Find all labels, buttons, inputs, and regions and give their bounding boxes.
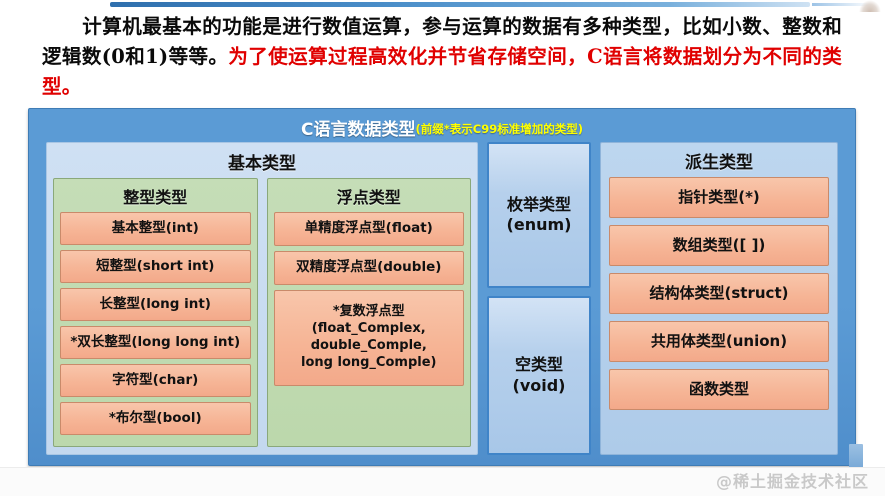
type-item-char[interactable]: 字符型(char) — [60, 364, 251, 397]
type-item-long-long-int[interactable]: *双长整型(long long int) — [60, 326, 251, 359]
type-item-complex[interactable]: *复数浮点型(float_Complex,double_Comple,long … — [274, 290, 465, 386]
top-rule-bar — [110, 2, 810, 7]
type-item-double[interactable]: 双精度浮点型(double) — [274, 251, 465, 285]
type-item-union[interactable]: 共用体类型(union) — [609, 321, 829, 362]
diagram-columns: 基本类型 整型类型 基本整型(int) 短整型(short int) 长整型(l… — [46, 142, 838, 455]
derived-types-panel: 派生类型 指针类型(*) 数组类型([ ]) 结构体类型(struct) 共用体… — [600, 142, 838, 455]
type-item-long-int[interactable]: 长整型(long int) — [60, 288, 251, 321]
type-item-function[interactable]: 函数类型 — [609, 369, 829, 410]
float-types-header: 浮点类型 — [274, 181, 465, 212]
integer-types-header: 整型类型 — [60, 181, 251, 212]
type-item-struct[interactable]: 结构体类型(struct) — [609, 273, 829, 314]
middle-types-column: 枚举类型(enum) 空类型(void) — [487, 142, 591, 455]
type-item-void[interactable]: 空类型(void) — [487, 296, 591, 455]
type-item-float[interactable]: 单精度浮点型(float) — [274, 212, 465, 246]
integer-types-group: 整型类型 基本整型(int) 短整型(short int) 长整型(long i… — [53, 178, 258, 447]
type-item-pointer[interactable]: 指针类型(*) — [609, 177, 829, 218]
watermark: @稀土掘金技术社区 — [716, 468, 869, 492]
type-item-bool[interactable]: *布尔型(bool) — [60, 402, 251, 435]
derived-types-header: 派生类型 — [609, 146, 829, 177]
type-item-enum[interactable]: 枚举类型(enum) — [487, 142, 591, 288]
basic-types-panel: 基本类型 整型类型 基本整型(int) 短整型(short int) 长整型(l… — [46, 142, 478, 455]
basic-types-inner: 整型类型 基本整型(int) 短整型(short int) 长整型(long i… — [53, 178, 471, 447]
basic-types-header: 基本类型 — [53, 146, 471, 178]
type-item-short-int[interactable]: 短整型(short int) — [60, 250, 251, 283]
diagram-title: C语言数据类型(前缀*表示C99标准增加的类型) — [29, 115, 855, 140]
type-item-array[interactable]: 数组类型([ ]) — [609, 225, 829, 266]
float-types-group: 浮点类型 单精度浮点型(float) 双精度浮点型(double) *复数浮点型… — [267, 178, 472, 447]
type-item-int[interactable]: 基本整型(int) — [60, 212, 251, 245]
corner-ornament-icon — [859, 0, 881, 12]
intro-paragraph: 计算机最基本的功能是进行数值运算，参与运算的数据有多种类型，比如小数、整数和逻辑… — [42, 12, 842, 102]
diagram-title-note: (前缀*表示C99标准增加的类型) — [416, 122, 583, 136]
c-data-type-diagram: C语言数据类型(前缀*表示C99标准增加的类型) 基本类型 整型类型 基本整型(… — [28, 108, 856, 466]
diagram-title-main: C语言数据类型 — [301, 120, 415, 140]
